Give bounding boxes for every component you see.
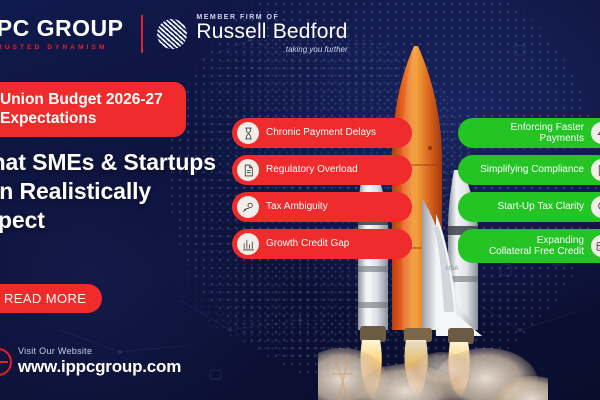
ippc-logo-tagline: TRUSTED DYNAMISM (0, 44, 123, 51)
credit-icon (591, 235, 600, 257)
ippc-logo-name: IPPC GROUP (0, 17, 123, 40)
solutions-list: Enforcing Faster Payments Simplifying Co… (458, 118, 600, 270)
bar-chart-icon (237, 233, 259, 255)
list-item-label: Tax Ambiguity (266, 201, 328, 213)
list-item[interactable]: Tax Ambiguity (232, 192, 412, 222)
brand-header: IPPC GROUP TRUSTED DYNAMISM MEMBER FIRM … (0, 8, 348, 60)
hourglass-icon (237, 122, 259, 144)
read-more-button[interactable]: READ MORE (0, 284, 102, 313)
lightbulb-icon (591, 196, 600, 218)
russell-bedford-logo[interactable]: MEMBER FIRM OF Russell Bedford taking yo… (157, 14, 347, 54)
fast-payment-icon (591, 122, 600, 144)
list-item[interactable]: Start-Up Tax Clarity (458, 192, 600, 222)
hand-coin-icon (237, 196, 259, 218)
list-item-label: Chronic Payment Delays (266, 127, 376, 139)
list-item-label: Start-Up Tax Clarity (497, 201, 584, 213)
checklist-icon (591, 159, 600, 181)
website-url: www.ippcgroup.com (18, 357, 181, 377)
list-item[interactable]: Expanding Collateral Free Credit (458, 229, 600, 263)
header-divider (141, 15, 143, 53)
list-item-label: Regulatory Overload (266, 164, 358, 176)
poster-canvas: USA IPPC GROUP TRUSTED DYNAMISM M (0, 0, 600, 400)
list-item-label: Enforcing Faster Payments (466, 122, 584, 145)
headline: What SMEs & Startups Can Realistically E… (0, 148, 230, 235)
problems-list: Chronic Payment Delays Regulatory Overlo… (232, 118, 412, 266)
partner-name: Russell Bedford (196, 21, 347, 44)
svg-text:USA: USA (446, 266, 458, 272)
visit-website-label: Visit Our Website (18, 346, 181, 356)
list-item-label: Expanding Collateral Free Credit (489, 235, 584, 258)
list-item-label: Growth Credit Gap (266, 238, 349, 250)
list-item-label: Simplifying Compliance (480, 164, 584, 176)
list-item[interactable]: Chronic Payment Delays (232, 118, 412, 148)
list-item[interactable]: Enforcing Faster Payments (458, 118, 600, 148)
list-item[interactable]: Growth Credit Gap (232, 229, 412, 259)
list-item[interactable]: Regulatory Overload (232, 155, 412, 185)
document-icon (237, 159, 259, 181)
website-block[interactable]: Visit Our Website www.ippcgroup.com (18, 346, 181, 377)
exhaust-smoke (318, 348, 548, 400)
partner-slogan: taking you further (196, 45, 347, 54)
list-item[interactable]: Simplifying Compliance (458, 155, 600, 185)
ippc-logo[interactable]: IPPC GROUP TRUSTED DYNAMISM (0, 17, 123, 51)
russell-bedford-mark-icon (157, 19, 187, 49)
topic-banner: Union Budget 2026-27 Expectations (0, 82, 186, 137)
